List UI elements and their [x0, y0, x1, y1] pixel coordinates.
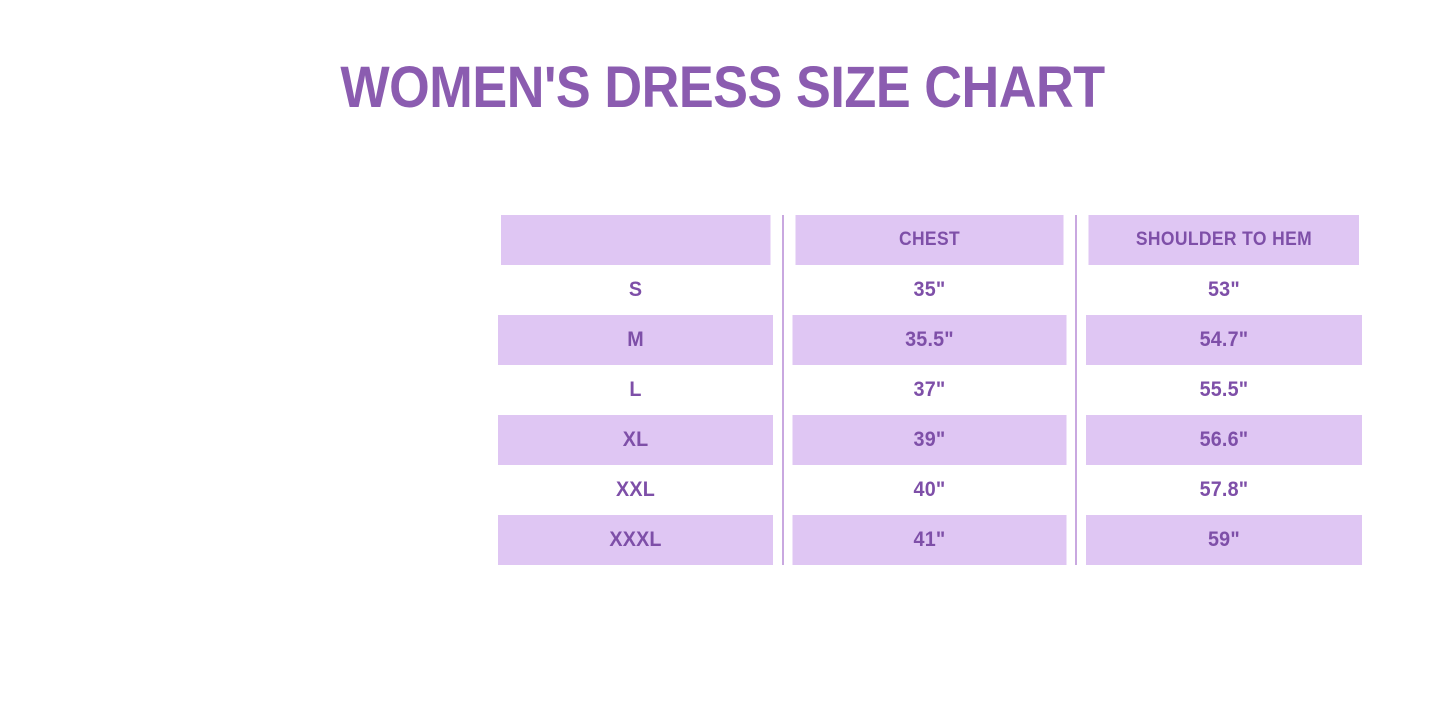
cell-shoulder-to-hem: 55.5": [1085, 365, 1362, 415]
table-row: S 35" 53": [489, 265, 1371, 315]
table-row: L 37" 55.5": [489, 365, 1371, 415]
size-chart-table: CHEST SHOULDER TO HEM S 35" 53" M 35.5" …: [489, 215, 1371, 565]
cell-size: XXL: [498, 465, 774, 515]
cell-size: M: [498, 315, 774, 365]
column-header-size: [501, 215, 771, 265]
page-title: WOMEN'S DRESS SIZE CHART: [72, 56, 1373, 120]
cell-chest: 41": [792, 515, 1067, 565]
table-row: XXL 40" 57.8": [489, 465, 1371, 515]
table-body: S 35" 53" M 35.5" 54.7" L 37" 55.5" XL 3…: [489, 265, 1371, 565]
cell-shoulder-to-hem: 54.7": [1085, 315, 1362, 365]
cell-size: L: [498, 365, 774, 415]
cell-chest: 35.5": [792, 315, 1067, 365]
cell-chest: 37": [792, 365, 1067, 415]
table-row: M 35.5" 54.7": [489, 315, 1371, 365]
table-header-row: CHEST SHOULDER TO HEM: [489, 215, 1371, 265]
table-row: XL 39" 56.6": [489, 415, 1371, 465]
cell-size: S: [498, 265, 774, 315]
cell-shoulder-to-hem: 53": [1085, 265, 1362, 315]
size-chart-page: WOMEN'S DRESS SIZE CHART CHEST SHOULDER …: [0, 0, 1445, 723]
column-header-chest: CHEST: [795, 215, 1065, 265]
table-row: XXXL 41" 59": [489, 515, 1371, 565]
cell-shoulder-to-hem: 59": [1085, 515, 1362, 565]
cell-chest: 39": [792, 415, 1067, 465]
table-header: CHEST SHOULDER TO HEM: [489, 215, 1371, 265]
cell-shoulder-to-hem: 57.8": [1085, 465, 1362, 515]
cell-size: XXXL: [498, 515, 774, 565]
cell-chest: 40": [792, 465, 1067, 515]
cell-chest: 35": [792, 265, 1067, 315]
size-chart-table-container: CHEST SHOULDER TO HEM S 35" 53" M 35.5" …: [489, 215, 1371, 565]
cell-shoulder-to-hem: 56.6": [1085, 415, 1362, 465]
cell-size: XL: [498, 415, 774, 465]
column-header-shoulder-to-hem: SHOULDER TO HEM: [1088, 215, 1359, 265]
